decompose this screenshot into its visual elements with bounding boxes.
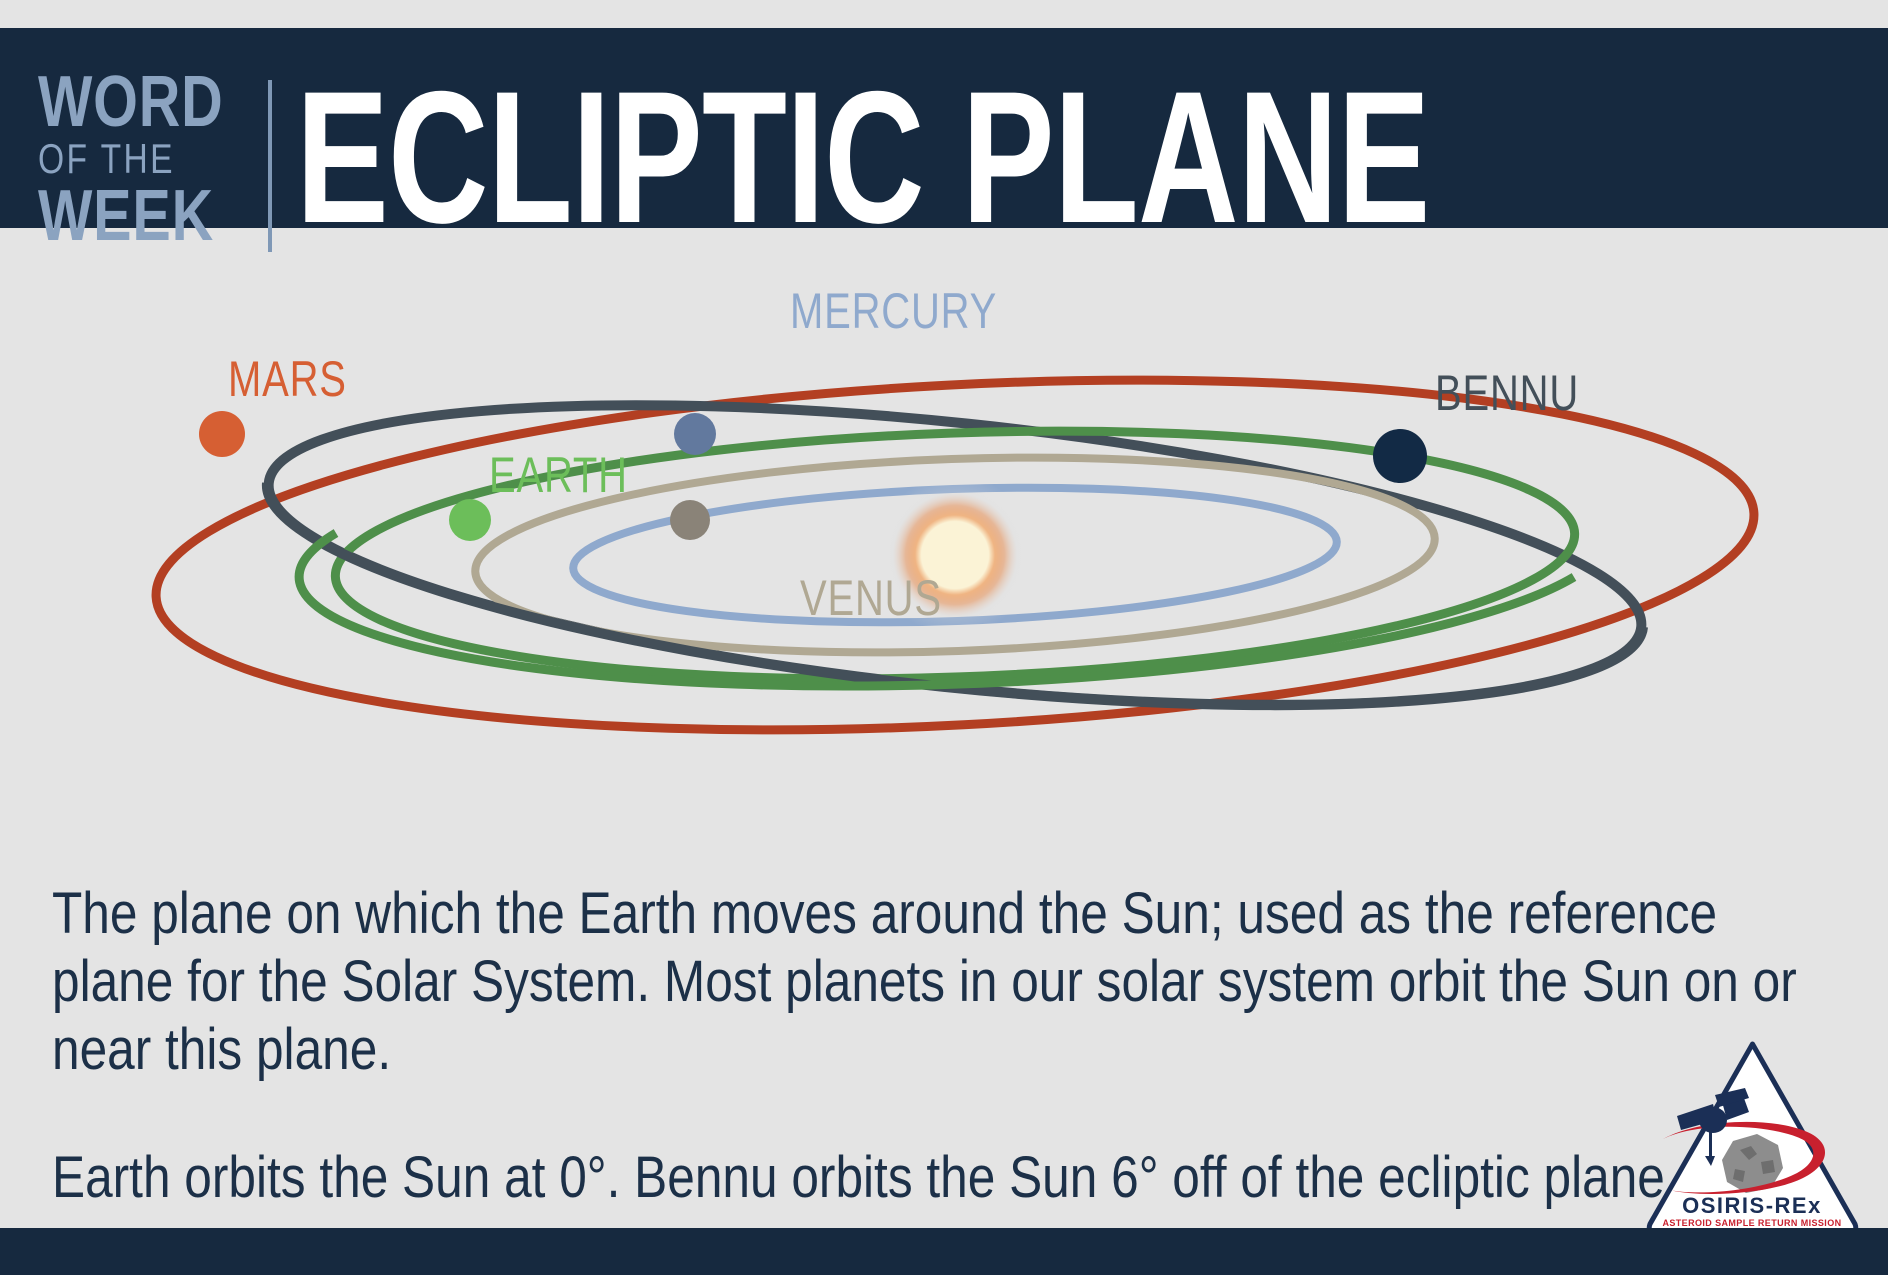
planet-dot-venus (670, 500, 710, 540)
definition-paragraph-1: The plane on which the Earth moves aroun… (52, 880, 1839, 1084)
ecliptic-plane-diagram: MARS EARTH MERCURY VENUS BENNU (0, 228, 1888, 788)
footer-bar (0, 1228, 1888, 1275)
page-title: ECLIPTIC PLANE (296, 64, 1430, 250)
logo-tagline: ASTEROID SAMPLE RETURN MISSION (1662, 1218, 1841, 1228)
planet-dot-earth (449, 499, 491, 541)
kicker-line-word: WORD (38, 66, 206, 138)
logo-wordmark: OSIRIS-REx (1682, 1193, 1822, 1218)
planet-dot-bennu (1373, 429, 1427, 483)
kicker-line-of-the: OF THE (38, 138, 206, 180)
orbit-label-mars: MARS (228, 354, 347, 404)
header-vertical-divider (268, 80, 272, 252)
definition-paragraph-2: Earth orbits the Sun at 0°. Bennu orbits… (52, 1144, 1839, 1212)
osiris-rex-logo-svg: OSIRIS-REx ASTEROID SAMPLE RETURN MISSIO… (1645, 1038, 1860, 1238)
planet-dot-mercury (674, 413, 716, 455)
orbit-label-venus: VENUS (800, 573, 942, 623)
osiris-rex-logo: OSIRIS-REx ASTEROID SAMPLE RETURN MISSIO… (1645, 1038, 1860, 1238)
word-of-the-week-kicker: WORD OF THE WEEK (38, 66, 248, 246)
orbit-label-earth: EARTH (489, 450, 628, 500)
planet-dot-mars (199, 411, 245, 457)
orbit-label-mercury: MERCURY (790, 286, 997, 336)
definition-text-block: The plane on which the Earth moves aroun… (52, 880, 1842, 1212)
top-margin-strip (0, 0, 1888, 28)
header-band: WORD OF THE WEEK ECLIPTIC PLANE (0, 28, 1888, 228)
orbit-label-bennu: BENNU (1435, 368, 1579, 418)
